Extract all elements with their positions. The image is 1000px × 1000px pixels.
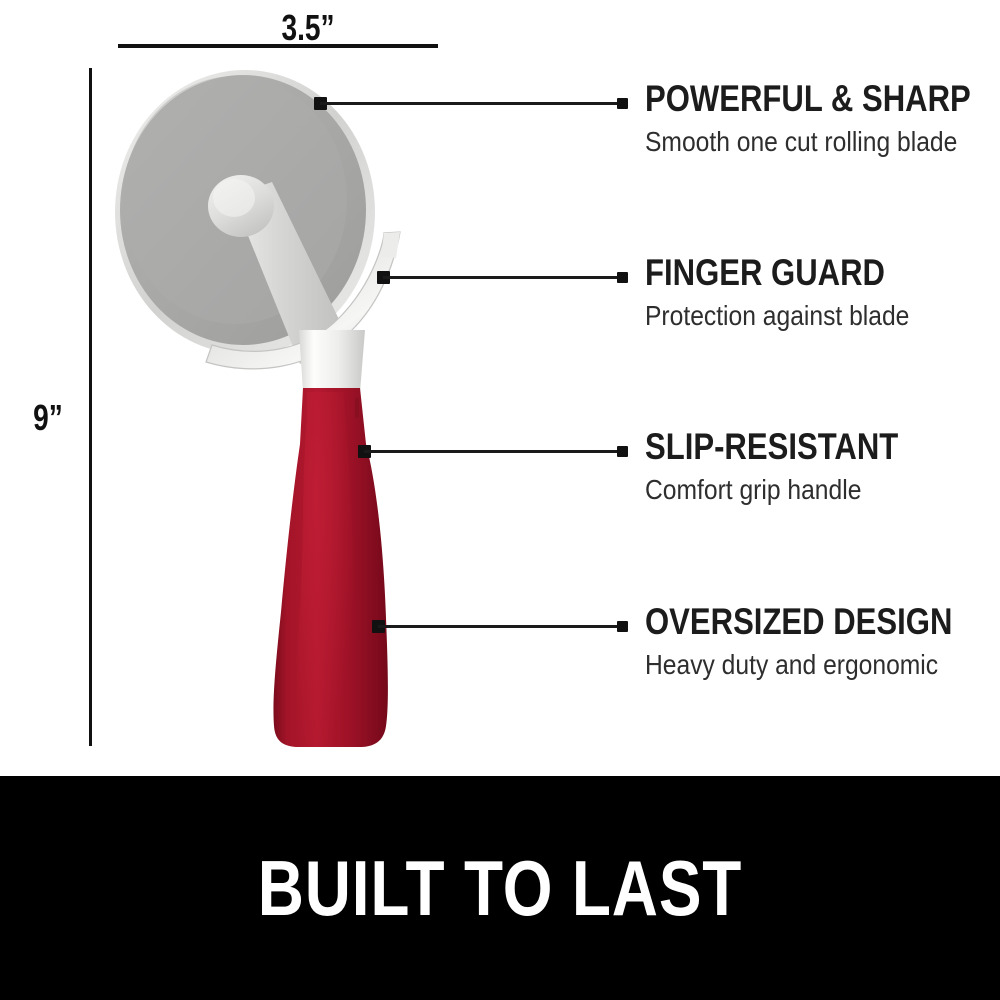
banner-headline: BUILT TO LAST <box>90 776 910 1000</box>
callout-endpoint-finger-guard <box>617 272 628 283</box>
blade-edge-ring <box>115 70 375 354</box>
callout-endpoint-powerful-sharp <box>617 98 628 109</box>
infographic-page: 3.5” 9” <box>0 0 1000 1000</box>
finger-guard <box>206 232 400 369</box>
feature-title-finger-guard: FINGER GUARD <box>645 254 935 292</box>
width-dimension-rule <box>118 44 438 48</box>
callout-line-finger-guard <box>383 276 622 279</box>
callout-line-oversized-design <box>378 625 622 628</box>
feature-subtitle-slip-resistant: Comfort grip handle <box>645 475 949 505</box>
blade-hub <box>208 175 274 237</box>
finger-guard-tip <box>381 232 400 258</box>
blade-shading <box>123 76 347 324</box>
feature-powerful-sharp: POWERFUL & SHARP Smooth one cut rolling … <box>645 80 990 157</box>
height-dimension-label: 9” <box>1 398 95 438</box>
feature-finger-guard: FINGER GUARD Protection against blade <box>645 254 990 331</box>
handle-ferrule <box>299 330 365 392</box>
handle-sheen <box>297 392 353 742</box>
callout-endpoint-slip-resistant <box>617 446 628 457</box>
feature-subtitle-oversized-design: Heavy duty and ergonomic <box>645 650 949 680</box>
callout-line-slip-resistant <box>364 450 622 453</box>
feature-title-powerful-sharp: POWERFUL & SHARP <box>645 80 935 118</box>
callout-endpoint-oversized-design <box>617 621 628 632</box>
blade-hub-highlight <box>213 179 255 217</box>
feature-title-oversized-design: OVERSIZED DESIGN <box>645 603 935 641</box>
callout-line-powerful-sharp <box>320 102 622 105</box>
feature-oversized-design: OVERSIZED DESIGN Heavy duty and ergonomi… <box>645 603 990 680</box>
blade-shaft <box>232 182 352 364</box>
feature-slip-resistant: SLIP-RESISTANT Comfort grip handle <box>645 428 990 505</box>
height-dimension-rule <box>89 68 92 746</box>
width-dimension-label: 3.5” <box>230 8 386 48</box>
handle-mould-mark <box>355 398 359 418</box>
handle-body <box>273 388 387 747</box>
blade-face <box>120 75 366 345</box>
bottom-banner: BUILT TO LAST <box>0 776 1000 1000</box>
feature-subtitle-finger-guard: Protection against blade <box>645 301 949 331</box>
feature-subtitle-powerful-sharp: Smooth one cut rolling blade <box>645 127 949 157</box>
feature-title-slip-resistant: SLIP-RESISTANT <box>645 428 935 466</box>
